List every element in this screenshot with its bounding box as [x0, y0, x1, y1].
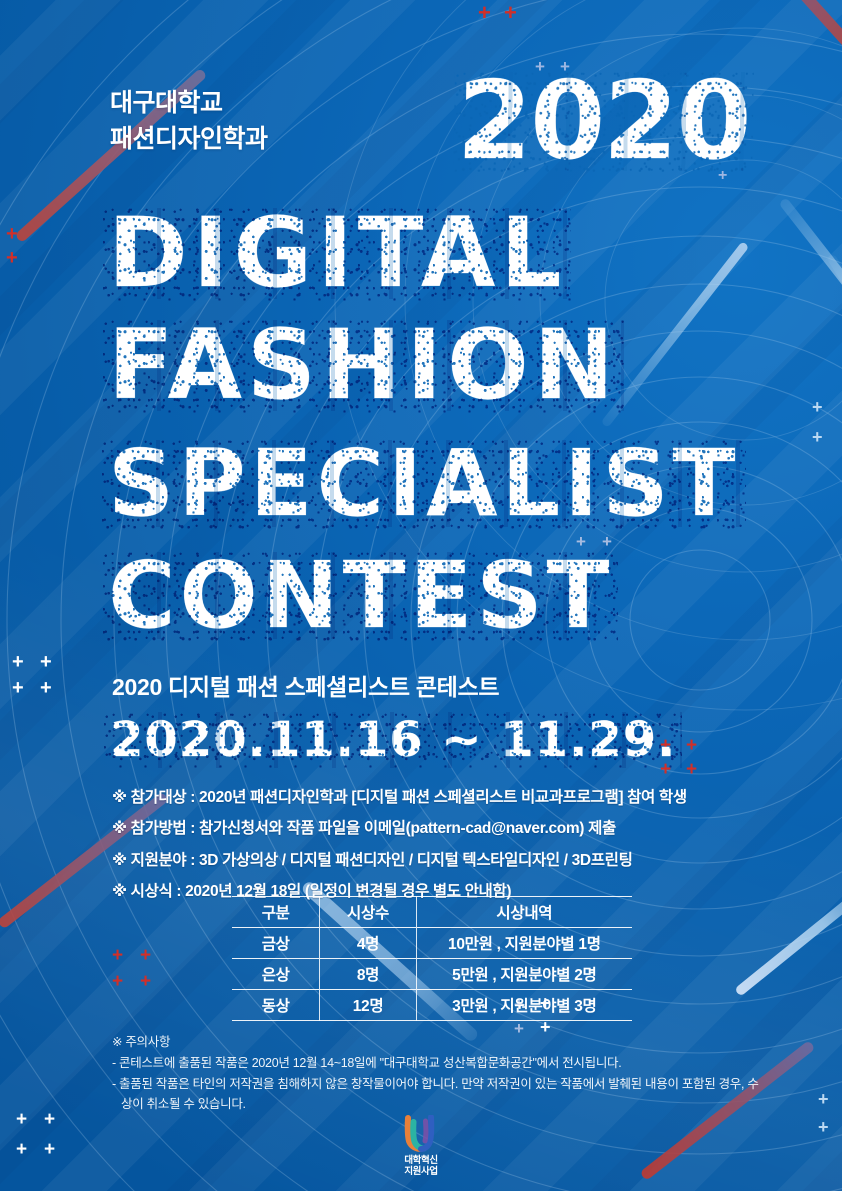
logo-caption-line2: 지원사업 — [404, 1166, 437, 1177]
university-innovation-logo-icon — [400, 1115, 442, 1153]
table-row: 은상 8명 5만원 , 지원분야별 2명 — [232, 959, 632, 990]
table-row: 동상 12명 3만원 , 지원분야별 3명 — [232, 990, 632, 1021]
table-row: 금상 4명 10만원 , 지원분야별 1명 — [232, 928, 632, 959]
title-line-1-text: DIGITAL — [108, 208, 566, 299]
table-header-detail: 시상내역 — [416, 897, 632, 928]
award-count-gold: 4명 — [320, 928, 416, 959]
title-line-2-text: FASHION — [108, 320, 619, 411]
poster-root: + + + + + + + + + + + + + + + + + + + + … — [0, 0, 842, 1191]
award-name-gold: 금상 — [232, 928, 320, 959]
notes-title: ※ 주의사항 — [112, 1032, 762, 1052]
title-line-3: SPECIALIST — [108, 440, 739, 527]
title-line-4: CONTEST — [108, 552, 613, 639]
details-list: ※ 참가대상 : 2020년 패션디자인학과 [디지털 패션 스페셜리스트 비교… — [112, 782, 687, 907]
title-line-3-text: SPECIALIST — [108, 440, 739, 527]
title-line-1: DIGITAL — [108, 208, 566, 299]
detail-item-fields: ※ 지원분야 : 3D 가상의상 / 디지털 패션디자인 / 디지털 텍스타일디… — [112, 845, 687, 876]
note-item-exhibition: - 콘테스트에 출품된 작품은 2020년 12월 14~18일에 "대구대학교… — [112, 1053, 762, 1073]
award-detail-gold: 10만원 , 지원분야별 1명 — [416, 928, 632, 959]
title-line-4-text: CONTEST — [108, 552, 613, 639]
department-name: 패션디자인학과 — [110, 122, 268, 158]
table-header-row: 구분 시상수 시상내역 — [232, 897, 632, 928]
detail-item-method: ※ 참가방법 : 참가신청서와 작품 파일을 이메일(pattern-cad@n… — [112, 813, 687, 844]
detail-item-target: ※ 참가대상 : 2020년 패션디자인학과 [디지털 패션 스페셜리스트 비교… — [112, 782, 687, 813]
logo-caption-line1: 대학혁신 — [404, 1155, 437, 1166]
subtitle: 2020 디지털 패션 스페셜리스트 콘테스트 — [112, 668, 499, 702]
date-range-text: 2020.11.16 ~ 11.29. — [110, 712, 676, 768]
award-name-silver: 은상 — [232, 959, 320, 990]
award-name-bronze: 동상 — [232, 990, 320, 1021]
award-count-silver: 8명 — [320, 959, 416, 990]
poster-content: 대구대학교 패션디자인학과 2020 DIGITAL FASHION SPECI… — [0, 0, 842, 1191]
logo-caption: 대학혁신 지원사업 — [404, 1155, 437, 1177]
award-count-bronze: 12명 — [320, 990, 416, 1021]
award-detail-bronze: 3만원 , 지원분야별 3명 — [416, 990, 632, 1021]
table-header-category: 구분 — [232, 897, 320, 928]
notes-block: ※ 주의사항 - 콘테스트에 출품된 작품은 2020년 12월 14~18일에… — [112, 1032, 762, 1114]
awards-table: 구분 시상수 시상내역 금상 4명 10만원 , 지원분야별 1명 은상 8명 … — [232, 896, 632, 1021]
sponsor-logo: 대학혁신 지원사업 — [0, 1115, 842, 1177]
note-item-copyright: - 출품된 작품은 타인의 저작권을 침해하지 않은 창작물이어야 합니다. 만… — [112, 1074, 762, 1115]
title-line-2: FASHION — [108, 320, 619, 411]
award-detail-silver: 5만원 , 지원분야별 2명 — [416, 959, 632, 990]
year-text: 2020 — [457, 72, 751, 171]
year-heading: 2020 — [457, 72, 751, 171]
department-block: 대구대학교 패션디자인학과 — [110, 86, 268, 157]
table-header-count: 시상수 — [320, 897, 416, 928]
university-name: 대구대학교 — [110, 86, 268, 122]
date-range: 2020.11.16 ~ 11.29. — [110, 712, 676, 768]
